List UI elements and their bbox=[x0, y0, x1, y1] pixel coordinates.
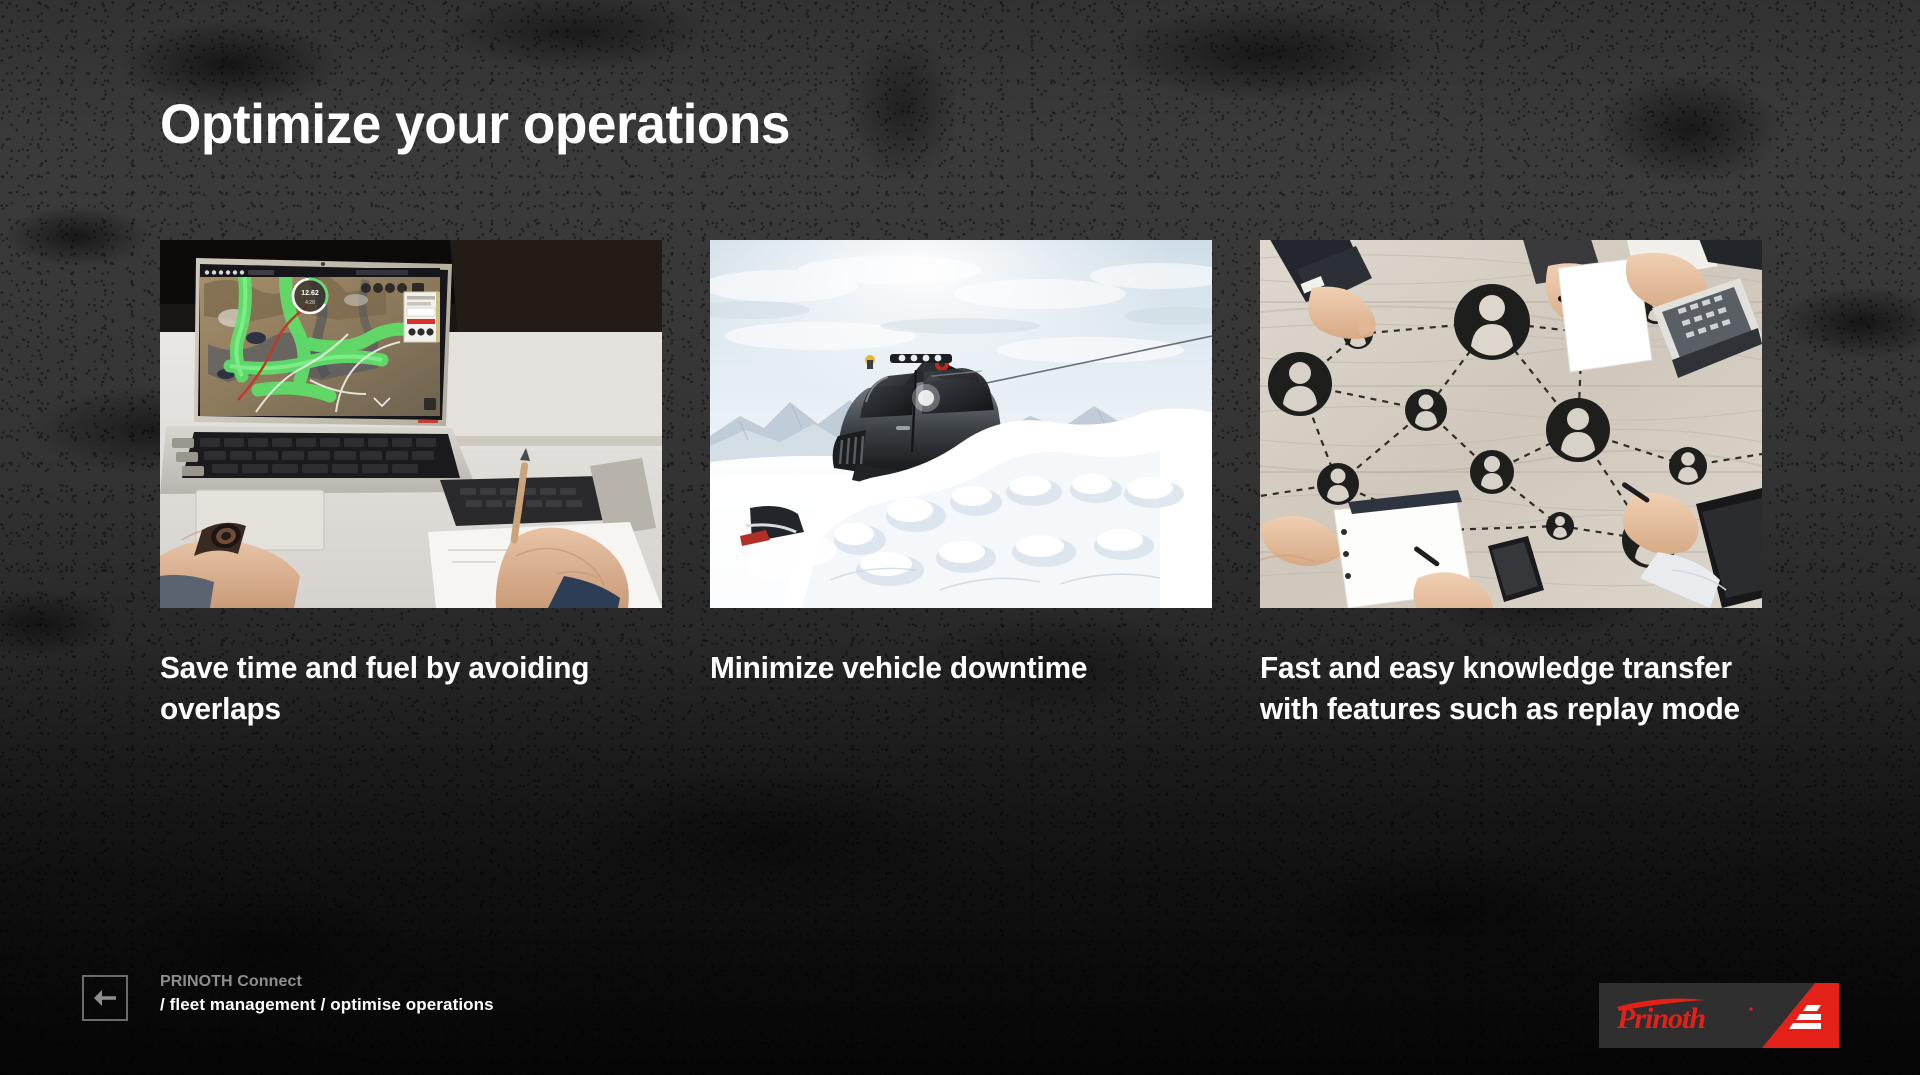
back-button[interactable] bbox=[82, 975, 128, 1021]
back-arrow-icon bbox=[92, 988, 118, 1008]
prinoth-logo-mark: Prinoth bbox=[1599, 983, 1839, 1048]
card-save-time-and-fuel: 12.62 4:28 bbox=[160, 240, 662, 730]
svg-text:Prinoth: Prinoth bbox=[1616, 1002, 1705, 1035]
laptop-map-planning-photo: 12.62 4:28 bbox=[160, 240, 662, 608]
slide-canvas: Optimize your operations bbox=[0, 0, 1920, 1075]
card-caption: Save time and fuel by avoiding overlaps bbox=[160, 648, 642, 730]
footer: PRINOTH Connect / fleet management / opt… bbox=[0, 955, 1920, 1075]
card-caption: Minimize vehicle downtime bbox=[710, 648, 1192, 689]
card-caption: Fast and easy knowledge transfer with fe… bbox=[1260, 648, 1742, 730]
card-minimize-downtime: Minimize vehicle downtime bbox=[710, 240, 1212, 730]
breadcrumb: PRINOTH Connect / fleet management / opt… bbox=[160, 970, 494, 1018]
card-knowledge-transfer: Fast and easy knowledge transfer with fe… bbox=[1260, 240, 1762, 730]
svg-text:4:28: 4:28 bbox=[305, 300, 315, 306]
breadcrumb-path: / fleet management / optimise operations bbox=[160, 993, 494, 1018]
prinoth-logo: Prinoth bbox=[1599, 983, 1839, 1048]
svg-text:12.62: 12.62 bbox=[301, 290, 319, 297]
page-title: Optimize your operations bbox=[160, 96, 790, 152]
breadcrumb-product: PRINOTH Connect bbox=[160, 970, 494, 993]
team-network-photo bbox=[1260, 240, 1762, 608]
card-row: 12.62 4:28 bbox=[160, 240, 1760, 730]
snow-groomer-photo bbox=[710, 240, 1212, 608]
